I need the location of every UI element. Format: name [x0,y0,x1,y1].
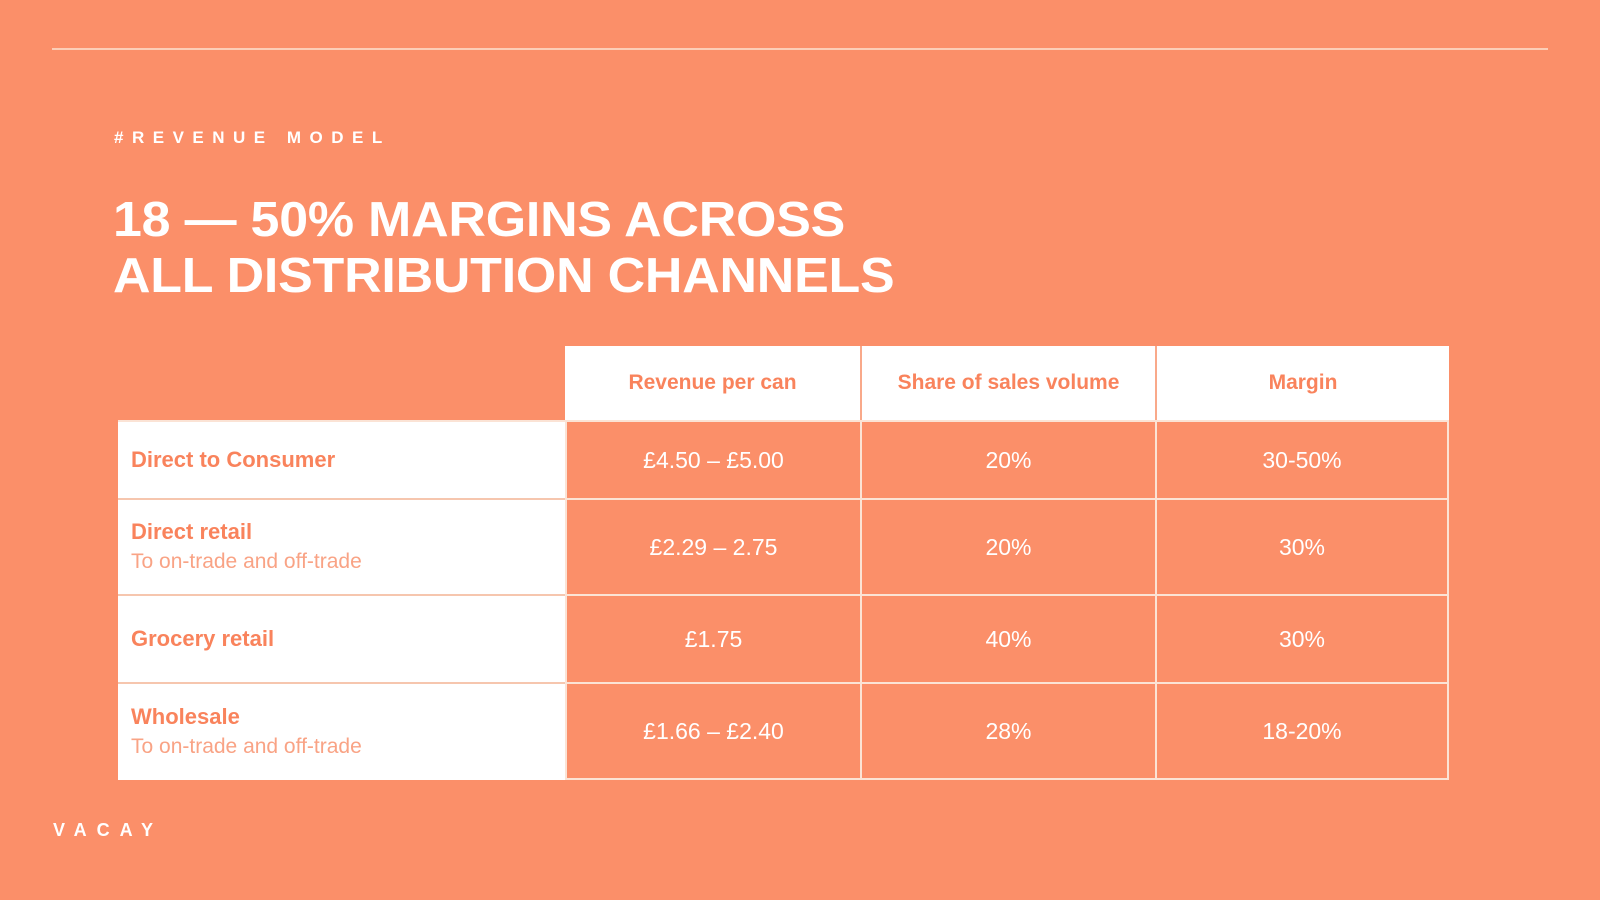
column-header-revenue-per-can: Revenue per can [565,346,860,420]
row-label-title: Wholesale [131,702,565,732]
row-label-subtitle: To on-trade and off-trade [131,547,565,577]
cell-revenue-per-can: £4.50 – £5.00 [565,422,860,500]
cell-revenue-per-can: £1.75 [565,596,860,684]
table-row: Direct retail To on-trade and off-trade … [118,500,1449,596]
row-label-title: Direct to Consumer [131,445,565,475]
cell-margin: 18-20% [1155,684,1449,780]
top-divider-rule [52,48,1548,50]
revenue-model-table: Revenue per can Share of sales volume Ma… [118,346,1449,764]
table-row: Direct to Consumer £4.50 – £5.00 20% 30-… [118,422,1449,500]
row-label-direct-to-consumer: Direct to Consumer [118,422,565,500]
page-title: 18 — 50% MARGINS ACROSS ALL DISTRIBUTION… [113,192,894,304]
row-label-title: Direct retail [131,517,565,547]
cell-share-of-sales-volume: 20% [860,500,1155,596]
row-label-wholesale: Wholesale To on-trade and off-trade [118,684,565,780]
table-header-corner-spacer [118,346,565,420]
row-label-subtitle: To on-trade and off-trade [131,732,565,762]
table-body: Direct to Consumer £4.50 – £5.00 20% 30-… [118,420,1449,780]
page-title-line-2: ALL DISTRIBUTION CHANNELS [113,248,894,304]
row-label-direct-retail: Direct retail To on-trade and off-trade [118,500,565,596]
cell-margin: 30-50% [1155,422,1449,500]
cell-margin: 30% [1155,596,1449,684]
cell-margin: 30% [1155,500,1449,596]
table-row: Grocery retail £1.75 40% 30% [118,596,1449,684]
row-label-grocery-retail: Grocery retail [118,596,565,684]
table-header-row: Revenue per can Share of sales volume Ma… [118,346,1449,420]
page-title-line-1: 18 — 50% MARGINS ACROSS [113,192,894,248]
cell-revenue-per-can: £1.66 – £2.40 [565,684,860,780]
section-eyebrow-label: #REVENUE MODEL [114,128,391,148]
cell-revenue-per-can: £2.29 – 2.75 [565,500,860,596]
column-header-margin: Margin [1155,346,1449,420]
row-label-title: Grocery retail [131,624,565,654]
column-header-share-of-sales-volume: Share of sales volume [860,346,1155,420]
brand-logo-vacay: VACAY [53,820,163,841]
cell-share-of-sales-volume: 20% [860,422,1155,500]
cell-share-of-sales-volume: 28% [860,684,1155,780]
cell-share-of-sales-volume: 40% [860,596,1155,684]
table-row: Wholesale To on-trade and off-trade £1.6… [118,684,1449,780]
